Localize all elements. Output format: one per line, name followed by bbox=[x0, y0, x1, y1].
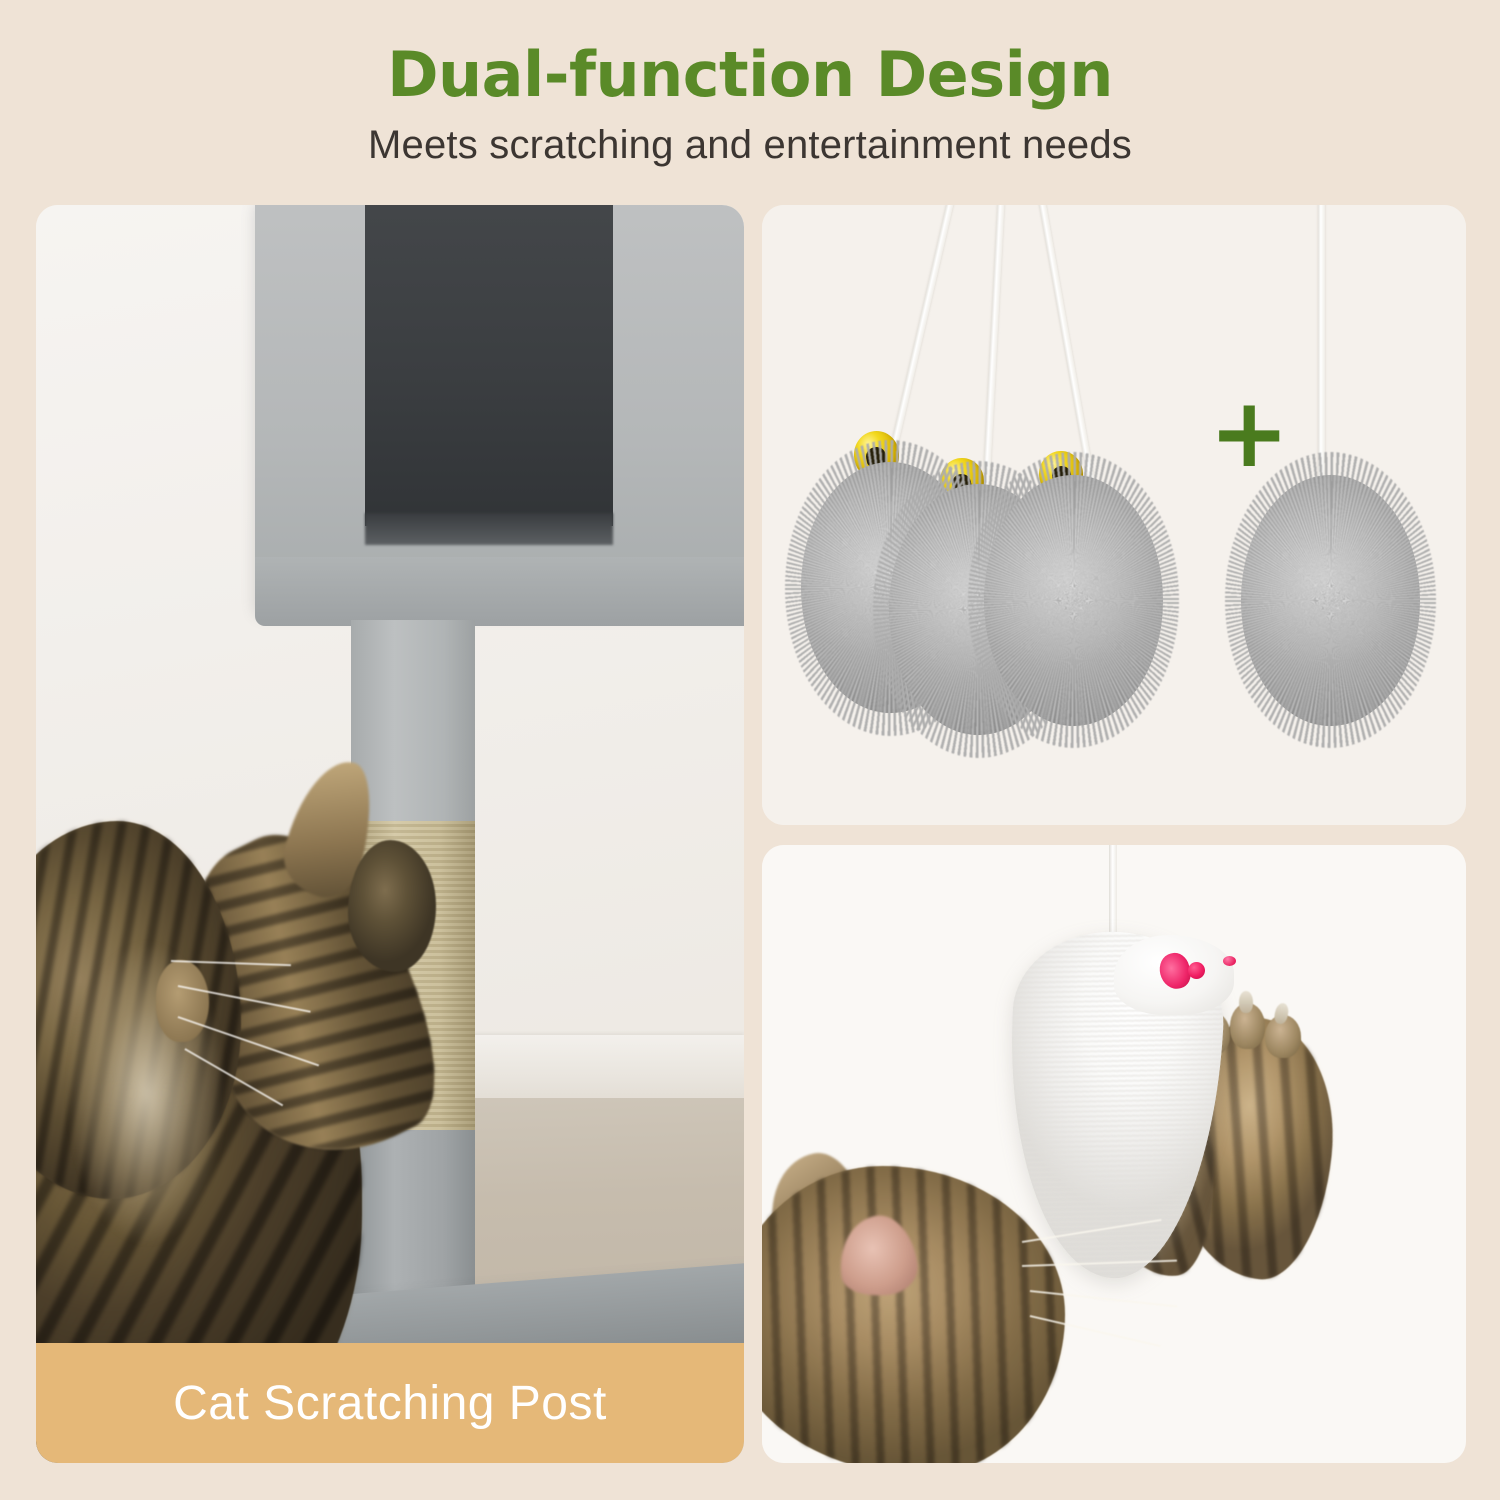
cat-tree-mat-fringe bbox=[365, 513, 613, 544]
pompom-ball bbox=[984, 475, 1164, 726]
page-title: Dual-function Design bbox=[0, 42, 1500, 107]
pompom-ball-extra bbox=[1241, 475, 1421, 726]
photo-dangling-ball: + bbox=[762, 205, 1466, 825]
panel-hanging-toy: Hanging Toy bbox=[762, 845, 1466, 1463]
cat-paw-on-post bbox=[348, 840, 437, 972]
page-subtitle: Meets scratching and entertainment needs bbox=[0, 123, 1500, 168]
plus-icon: + bbox=[1209, 385, 1289, 481]
cat-tree-platform-edge bbox=[255, 557, 744, 626]
post-upper-plush bbox=[351, 620, 475, 821]
caption-cat-scratching-post: Cat Scratching Post bbox=[36, 1343, 744, 1463]
panel-dangling-ball: + Dangling Ball bbox=[762, 205, 1466, 825]
panel-cat-scratching-post: Cat Scratching Post bbox=[36, 205, 744, 1463]
header: Dual-function Design Meets scratching an… bbox=[0, 0, 1500, 168]
photo-cat-scratching-post bbox=[36, 205, 744, 1463]
photo-hanging-toy bbox=[762, 845, 1466, 1463]
panel-grid: Cat Scratching Post + bbox=[36, 205, 1466, 1463]
post-lower-plush bbox=[351, 1130, 475, 1306]
cat-claw bbox=[1239, 991, 1252, 1013]
cat-tree-dark-mat bbox=[365, 205, 613, 526]
